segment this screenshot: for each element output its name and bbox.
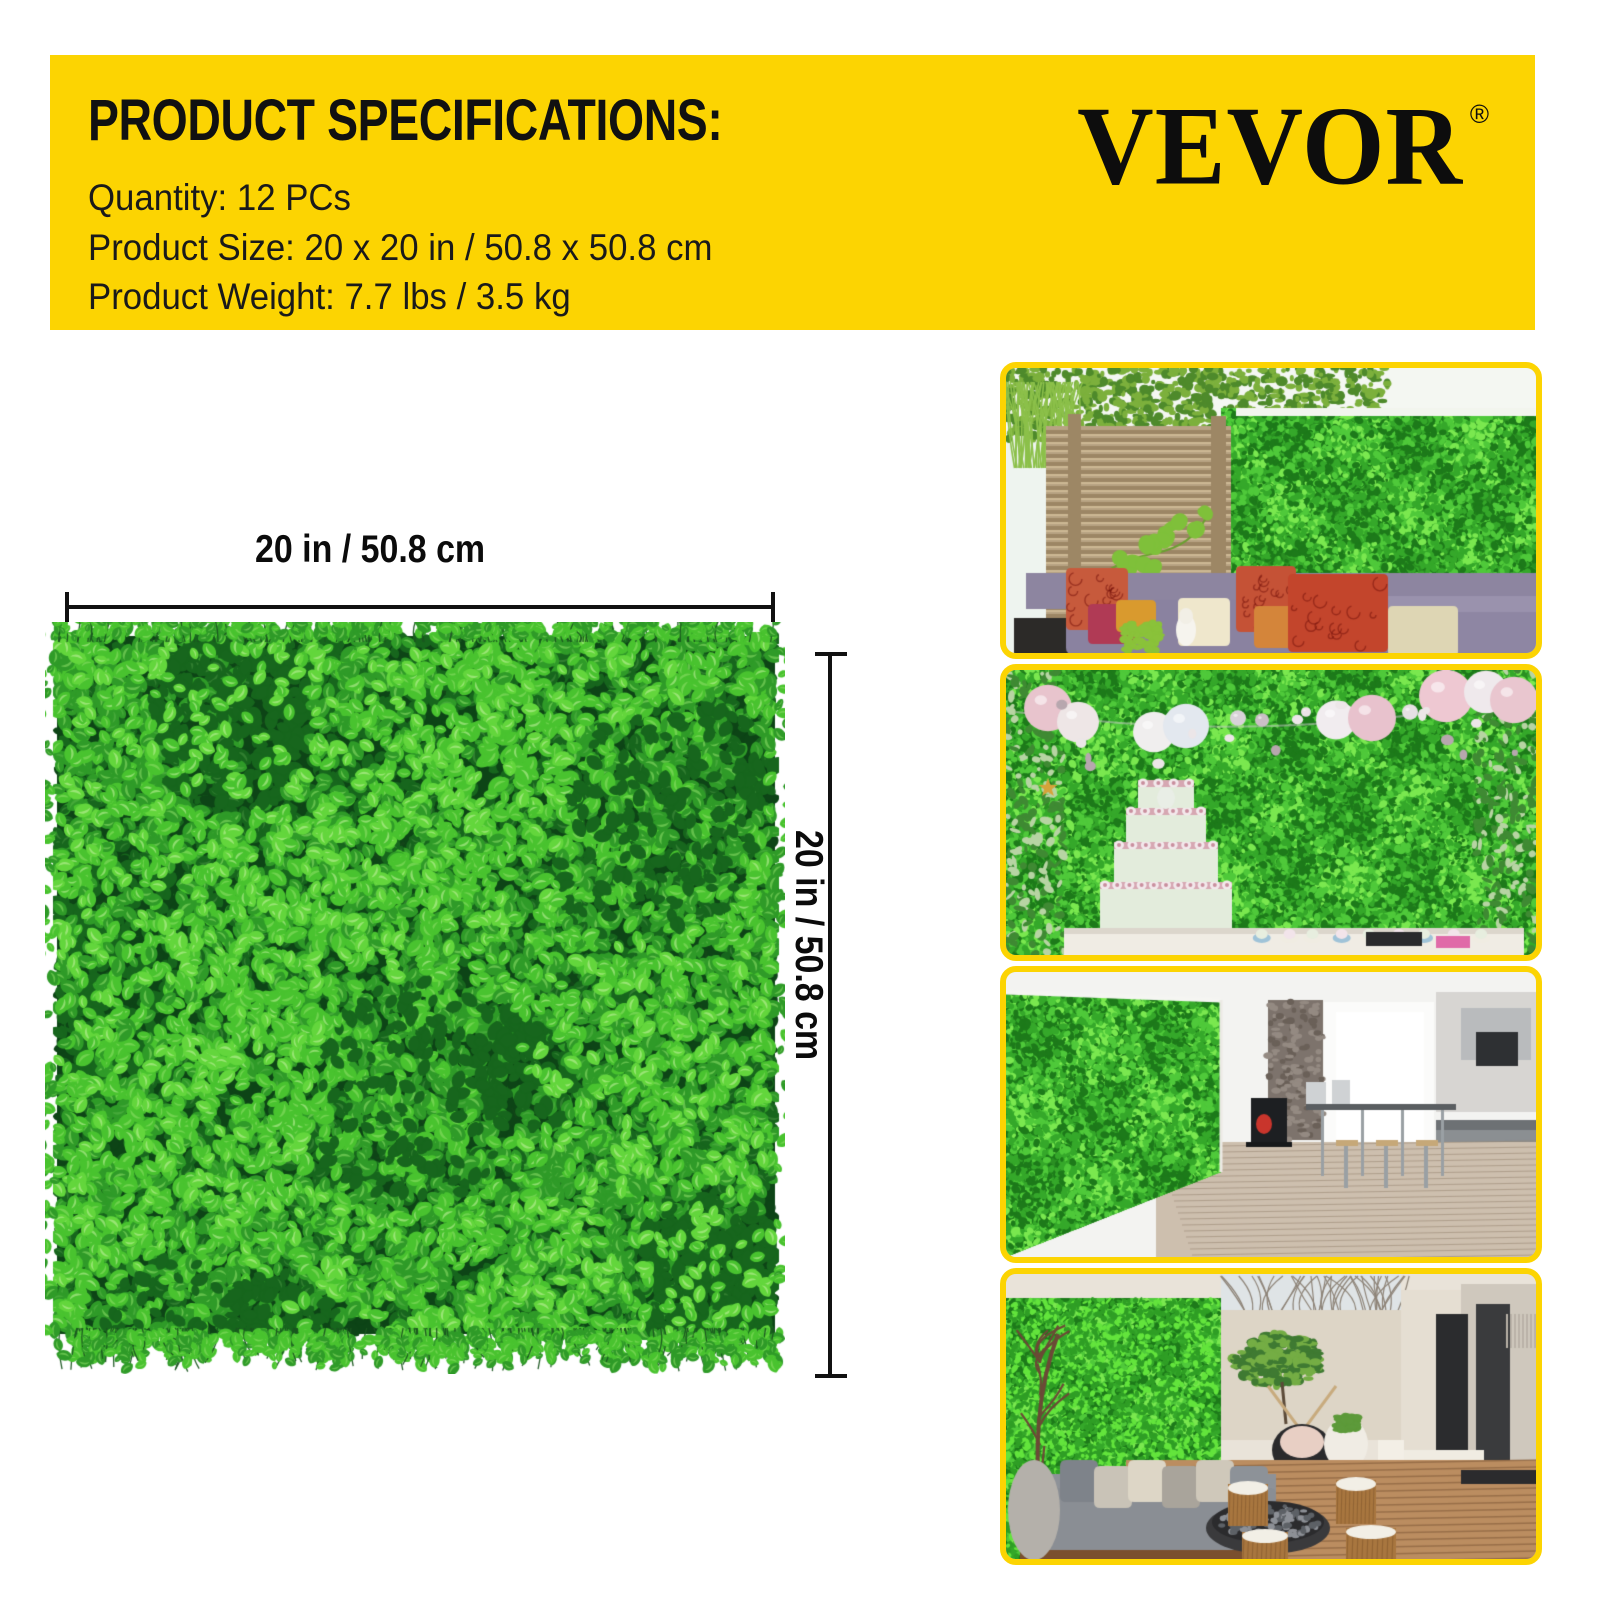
vevor-logo: VEVOR ® <box>1099 93 1489 188</box>
product-image-hedge-panel <box>45 622 785 1374</box>
dimension-cap-bottom <box>815 1374 847 1378</box>
thumbnail-image <box>1006 1274 1536 1559</box>
thumbnail-image <box>1006 368 1536 653</box>
thumbnail-image <box>1006 972 1536 1257</box>
thumbnail-image <box>1006 670 1536 955</box>
thumbnail-interior-kitchen[interactable] <box>1000 966 1542 1263</box>
spec-quantity: Quantity: 12 PCs <box>88 173 712 223</box>
page-title: PRODUCT SPECIFICATIONS: <box>88 87 722 154</box>
spec-product-weight: Product Weight: 7.7 lbs / 3.5 kg <box>88 272 712 322</box>
hedge-texture <box>45 622 785 1374</box>
thumbnail-outdoor-patio[interactable] <box>1000 362 1542 659</box>
brand-name: VEVOR <box>1077 93 1463 199</box>
spec-product-size: Product Size: 20 x 20 in / 50.8 x 50.8 c… <box>88 223 712 273</box>
width-dimension-label: 20 in / 50.8 cm <box>255 528 485 572</box>
thumbnail-courtyard-firepit[interactable] <box>1000 1268 1542 1565</box>
registered-trademark-icon: ® <box>1470 101 1489 127</box>
specifications-banner: PRODUCT SPECIFICATIONS: Quantity: 12 PCs… <box>50 55 1535 330</box>
specifications-list: Quantity: 12 PCs Product Size: 20 x 20 i… <box>88 173 752 322</box>
dimension-bar <box>65 605 775 609</box>
width-dimension-line <box>65 592 775 620</box>
dimension-cap-right <box>771 592 775 622</box>
thumbnail-party-backdrop[interactable] <box>1000 664 1542 961</box>
height-dimension-label: 20 in / 50.8 cm <box>786 830 830 1060</box>
